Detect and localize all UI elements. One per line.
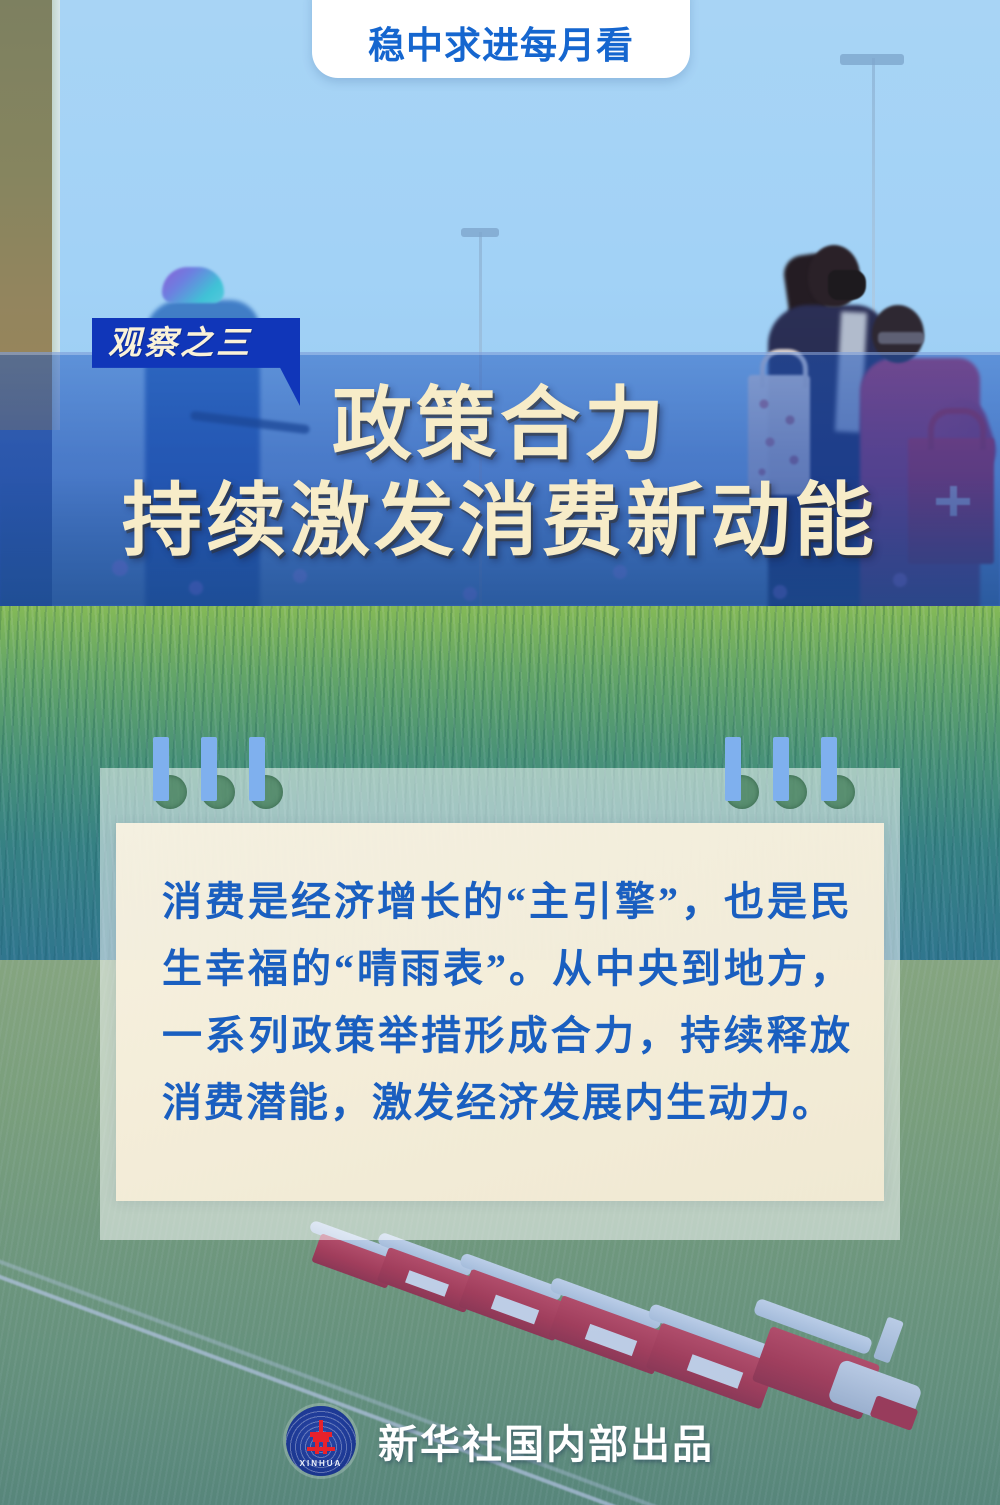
footer: XINHUA 新华社国内部出品	[0, 1398, 1000, 1484]
page-title-line2: 持续激发消费新动能	[0, 478, 1000, 568]
xinhua-logo-icon: XINHUA	[286, 1406, 356, 1476]
shopper-b-glasses	[878, 332, 924, 344]
cyclist-helmet	[162, 267, 224, 303]
page-title: 政策合力 持续激发消费新动能	[0, 382, 1000, 567]
section-banner: 观察之三	[92, 318, 296, 382]
face-mask-icon	[828, 270, 866, 300]
xinhua-logo-tower	[306, 1420, 336, 1454]
binding-coil	[153, 737, 169, 801]
header-pill-label: 稳中求进每月看	[368, 27, 634, 64]
binding-coil	[773, 737, 789, 801]
page-title-line1: 政策合力	[0, 382, 1000, 472]
binding-coil	[201, 737, 217, 801]
light-pole-right-head	[840, 54, 904, 65]
xinhua-logo-wordmark: XINHUA	[286, 1459, 356, 1468]
footer-credit: 新华社国内部出品	[378, 1412, 714, 1470]
header-pill: 稳中求进每月看	[312, 0, 690, 78]
binding-coil	[249, 737, 265, 801]
light-pole-center-head	[461, 228, 499, 237]
binding-coil	[725, 737, 741, 801]
poster-root: 稳中求进每月看 观察之三 政策合力 持续激发消费新动能 消费是经济增长的“主引擎…	[0, 0, 1000, 1505]
binding-coil	[821, 737, 837, 801]
note-card-body-text: 消费是经济增长的“主引擎”，也是民生幸福的“晴雨表”。从中央到地方，一系列政策举…	[162, 868, 852, 1136]
section-banner-label: 观察之三	[108, 321, 252, 367]
